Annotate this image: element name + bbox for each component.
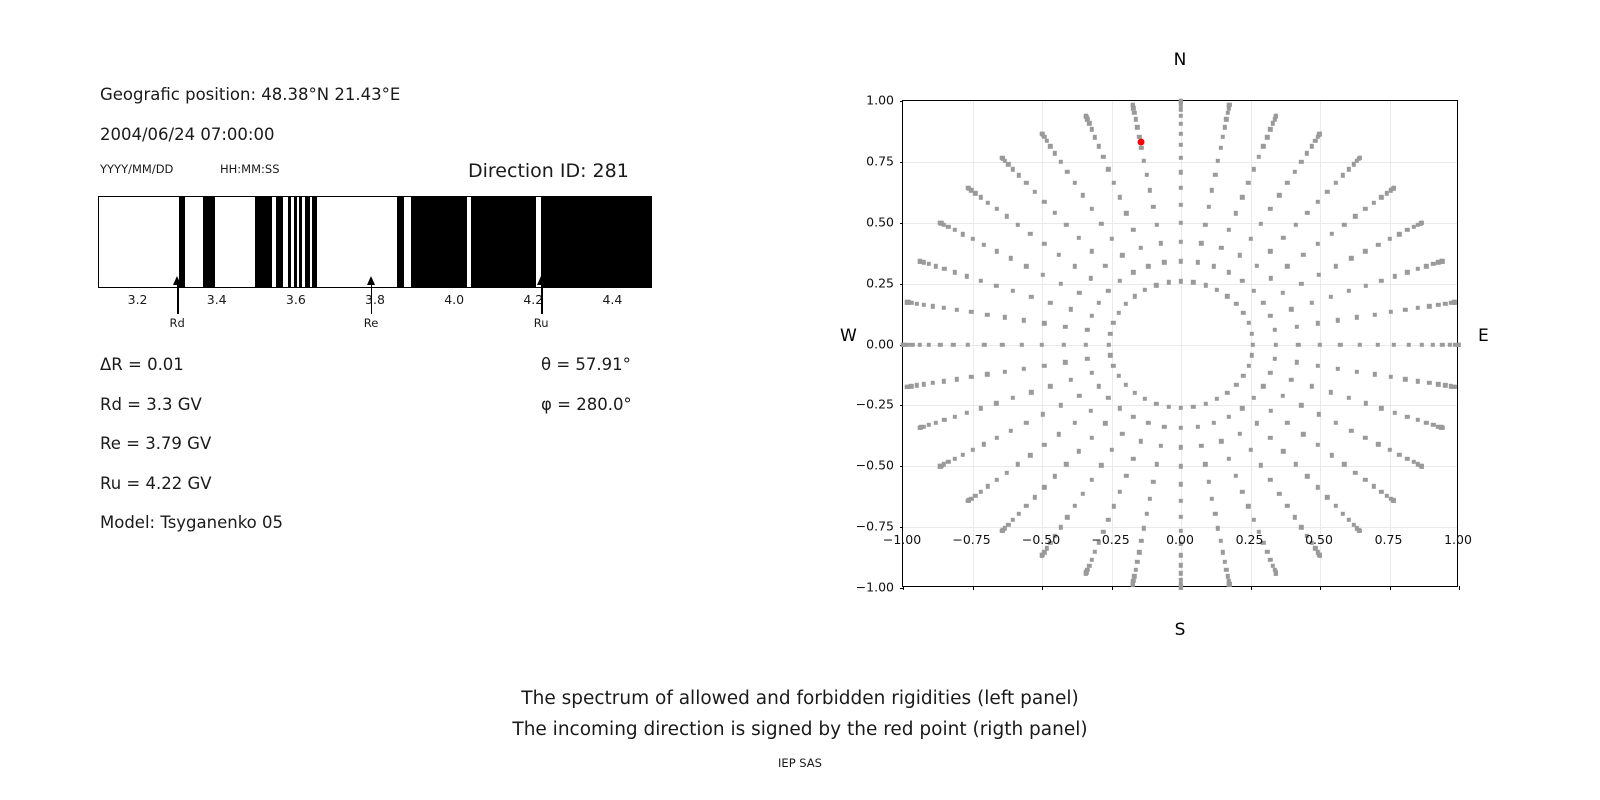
param-ru: Ru = 4.22 GV xyxy=(100,474,212,493)
direction-point xyxy=(1065,170,1069,174)
direction-point xyxy=(1211,264,1215,268)
direction-point xyxy=(1281,235,1285,239)
geographic-position-label: Geografic position: 48.38°N 21.43°E xyxy=(100,85,400,104)
direction-point xyxy=(1424,264,1428,268)
direction-point xyxy=(1305,151,1309,155)
direction-point xyxy=(1363,436,1367,440)
direction-point xyxy=(1203,402,1207,406)
y-tick-label: 0.50 xyxy=(866,214,894,229)
direction-point xyxy=(1076,449,1080,453)
direction-point xyxy=(1042,321,1046,325)
direction-point xyxy=(1213,173,1217,177)
spectrum-marker-re: Re xyxy=(371,274,372,314)
direction-point xyxy=(1427,304,1431,308)
direction-point xyxy=(1318,131,1322,135)
x-tick-label: 1.00 xyxy=(1444,532,1472,547)
direction-point xyxy=(1215,288,1219,292)
direction-point xyxy=(931,304,935,308)
direction-point xyxy=(1124,474,1128,478)
direction-point xyxy=(1252,167,1256,171)
direction-point xyxy=(1106,518,1110,522)
y-tickmark xyxy=(900,223,904,224)
forbidden-band xyxy=(541,197,652,287)
direction-point xyxy=(1342,222,1346,226)
direction-point xyxy=(1218,539,1222,543)
direction-point xyxy=(1329,453,1333,457)
y-tickmark xyxy=(900,284,904,285)
direction-point xyxy=(1052,474,1056,478)
direction-point xyxy=(946,225,950,229)
rigidity-spectrum-chart xyxy=(98,196,652,288)
direction-point xyxy=(1145,512,1149,516)
direction-point xyxy=(1179,499,1183,503)
direction-point xyxy=(1003,369,1007,373)
direction-point xyxy=(946,460,950,464)
direction-point xyxy=(1440,342,1444,346)
direction-point xyxy=(1106,167,1110,171)
direction-point xyxy=(1241,311,1245,315)
direction-point xyxy=(1234,302,1238,306)
direction-point xyxy=(1109,448,1113,452)
x-tickmark xyxy=(1390,586,1391,590)
direction-point xyxy=(1019,342,1023,346)
direction-point xyxy=(1024,181,1028,185)
direction-point xyxy=(1191,404,1195,408)
x-tickmark xyxy=(1042,586,1043,590)
direction-point xyxy=(1131,414,1135,418)
compass-south-label: S xyxy=(1175,620,1186,640)
direction-point xyxy=(1431,262,1435,266)
direction-point xyxy=(1329,295,1333,299)
direction-point xyxy=(994,401,998,405)
direction-point xyxy=(1179,279,1183,283)
direction-point xyxy=(1093,550,1097,554)
direction-point xyxy=(1225,294,1229,298)
direction-point xyxy=(1096,301,1100,305)
direction-point xyxy=(1179,107,1183,111)
date-format-hint: YYYY/MM/DD xyxy=(100,162,173,176)
rigidity-spectrum-panel: Geografic position: 48.38°N 21.43°E 2004… xyxy=(0,0,760,660)
direction-point xyxy=(1355,315,1359,319)
direction-point xyxy=(973,191,977,195)
direction-point xyxy=(1316,363,1320,367)
direction-point xyxy=(1133,391,1137,395)
direction-point xyxy=(1179,143,1183,147)
direction-point xyxy=(1349,256,1353,260)
direction-point xyxy=(1158,241,1162,245)
direction-point xyxy=(1000,529,1004,533)
forbidden-band xyxy=(294,197,297,287)
direction-point xyxy=(1155,222,1159,226)
direction-point xyxy=(931,381,935,385)
direction-point xyxy=(1118,195,1122,199)
direction-point xyxy=(1392,186,1396,190)
direction-point xyxy=(1218,146,1222,150)
direction-point xyxy=(1265,550,1269,554)
marker-shaft xyxy=(177,282,178,314)
direction-point xyxy=(1252,518,1256,522)
direction-point xyxy=(1111,364,1115,368)
direction-point xyxy=(1195,260,1199,264)
direction-point xyxy=(982,243,986,247)
direction-point xyxy=(1068,307,1072,311)
direction-point xyxy=(1199,241,1203,245)
direction-point xyxy=(1347,396,1351,400)
direction-point xyxy=(1252,289,1256,293)
caption-line-2: The incoming direction is signed by the … xyxy=(0,719,1600,740)
direction-point xyxy=(1148,496,1152,500)
direction-point xyxy=(1219,439,1223,443)
direction-point xyxy=(1081,193,1085,197)
direction-point xyxy=(938,221,942,225)
forbidden-band xyxy=(397,197,405,287)
direction-point xyxy=(922,303,926,307)
direction-point xyxy=(1133,568,1137,572)
direction-point xyxy=(1379,278,1383,282)
direction-point xyxy=(1143,288,1147,292)
direction-point xyxy=(1225,391,1229,395)
direction-point xyxy=(1072,504,1076,508)
direction-point xyxy=(1285,504,1289,508)
direction-point xyxy=(1261,144,1265,148)
direction-point xyxy=(1261,301,1265,305)
direction-point xyxy=(1405,414,1409,418)
direction-point xyxy=(955,308,959,312)
direction-point xyxy=(1268,371,1272,375)
direction-point xyxy=(1397,453,1401,457)
direction-point xyxy=(1040,131,1044,135)
forbidden-band xyxy=(411,197,467,287)
direction-id-label: Direction ID: 281 xyxy=(468,160,629,182)
direction-point xyxy=(927,342,931,346)
direction-point xyxy=(1179,239,1183,243)
direction-point xyxy=(1112,181,1116,185)
direction-point xyxy=(1089,127,1093,131)
marker-shaft xyxy=(371,282,372,314)
x-tickmark xyxy=(973,586,974,590)
direction-point xyxy=(1096,384,1100,388)
direction-point xyxy=(1363,478,1367,482)
direction-point xyxy=(1316,242,1320,246)
direction-point xyxy=(1179,464,1183,468)
direction-point xyxy=(1285,421,1289,425)
direction-point xyxy=(985,372,989,376)
spectrum-tick-label: 3.6 xyxy=(286,292,306,307)
direction-point xyxy=(1068,377,1072,381)
direction-point xyxy=(1305,210,1309,214)
direction-point xyxy=(1089,314,1093,318)
forbidden-band xyxy=(276,197,283,287)
direction-point xyxy=(1269,276,1273,280)
direction-point xyxy=(918,259,922,263)
direction-point xyxy=(1206,480,1210,484)
direction-point xyxy=(1179,186,1183,190)
direction-point xyxy=(1029,390,1033,394)
direction-point xyxy=(1416,379,1420,383)
direction-point xyxy=(1268,127,1272,131)
direction-point xyxy=(1045,139,1049,143)
direction-point xyxy=(1124,302,1128,306)
direction-point xyxy=(938,464,942,468)
direction-point xyxy=(918,426,922,430)
direction-point xyxy=(1274,342,1278,346)
direction-point xyxy=(1250,331,1254,335)
direction-point xyxy=(1085,357,1089,361)
direction-point xyxy=(1003,315,1007,319)
direction-point xyxy=(1058,525,1062,529)
direction-point xyxy=(1357,529,1361,533)
x-tick-label: 0.50 xyxy=(1305,532,1333,547)
direction-point xyxy=(1048,144,1052,148)
direction-point xyxy=(1087,121,1091,125)
direction-point xyxy=(1024,421,1028,425)
direction-point xyxy=(1099,463,1103,467)
y-tick-label: −1.00 xyxy=(856,580,894,595)
direction-point xyxy=(1334,264,1338,268)
direction-point xyxy=(1223,125,1227,129)
direction-point xyxy=(1457,342,1461,346)
spectrum-bar xyxy=(98,196,652,288)
direction-map-panel: N S W E −1.00−0.75−0.50−0.250.000.250.50… xyxy=(830,40,1530,660)
direction-point xyxy=(901,342,905,346)
direction-point xyxy=(1375,342,1379,346)
direction-point xyxy=(1179,586,1183,590)
direction-point xyxy=(1403,377,1407,381)
direction-point xyxy=(1250,353,1254,357)
direction-point xyxy=(1179,571,1183,575)
direction-point xyxy=(1238,431,1242,435)
y-tickmark xyxy=(900,527,904,528)
direction-point xyxy=(1246,504,1250,508)
x-tickmark xyxy=(1459,586,1460,590)
direction-point xyxy=(1334,421,1338,425)
direction-point xyxy=(1376,442,1380,446)
direction-point xyxy=(1154,402,1158,406)
direction-point xyxy=(1416,418,1420,422)
direction-point xyxy=(1118,278,1122,282)
direction-point xyxy=(1405,270,1409,274)
direction-point xyxy=(1179,156,1183,160)
direction-point xyxy=(1089,207,1093,211)
direction-point xyxy=(1431,342,1435,346)
direction-point xyxy=(1011,167,1015,171)
y-tickmark xyxy=(900,162,904,163)
direction-point xyxy=(1317,272,1321,276)
direction-point xyxy=(1392,342,1396,346)
direction-point xyxy=(1028,232,1032,236)
direction-point xyxy=(1064,222,1068,226)
direction-point xyxy=(1420,342,1424,346)
direction-point xyxy=(1112,504,1116,508)
direction-point xyxy=(1009,428,1013,432)
x-tick-label: 0.75 xyxy=(1375,532,1403,547)
direction-point xyxy=(1296,342,1300,346)
direction-point xyxy=(1272,357,1276,361)
y-tickmark xyxy=(900,405,904,406)
direction-point xyxy=(1248,448,1252,452)
direction-point xyxy=(1281,394,1285,398)
direction-point xyxy=(1203,283,1207,287)
direction-point xyxy=(1042,242,1046,246)
direction-point xyxy=(1376,243,1380,247)
direction-point xyxy=(1226,228,1230,232)
direction-point xyxy=(1000,342,1004,346)
direction-point xyxy=(1077,291,1081,295)
direction-point xyxy=(1166,404,1170,408)
direction-point xyxy=(1274,571,1278,575)
direction-point xyxy=(1420,221,1424,225)
incoming-direction-point xyxy=(1137,138,1144,145)
direction-point xyxy=(1318,553,1322,557)
direction-point xyxy=(1052,210,1056,214)
direction-point xyxy=(1057,253,1061,257)
direction-point xyxy=(1294,360,1298,364)
direction-point xyxy=(1316,199,1320,203)
direction-point xyxy=(979,278,983,282)
direction-point xyxy=(1240,406,1244,410)
direction-point xyxy=(953,414,957,418)
direction-point xyxy=(1032,189,1036,193)
direction-point xyxy=(1379,195,1383,199)
direction-point xyxy=(1072,181,1076,185)
direction-point xyxy=(1240,278,1244,282)
direction-point xyxy=(1259,463,1263,467)
direction-point xyxy=(1058,160,1062,164)
direction-point xyxy=(1016,222,1020,226)
direction-point xyxy=(1347,167,1351,171)
direction-point xyxy=(1057,432,1061,436)
direction-point xyxy=(1024,504,1028,508)
direction-point xyxy=(1407,342,1411,346)
direction-point xyxy=(1158,444,1162,448)
direction-point xyxy=(1028,453,1032,457)
direction-point xyxy=(1108,331,1112,335)
direction-point xyxy=(1191,280,1195,284)
direction-point xyxy=(1211,421,1215,425)
direction-point xyxy=(1101,155,1105,159)
y-tickmark xyxy=(900,466,904,467)
direction-point xyxy=(1009,256,1013,260)
param-re: Re = 3.79 GV xyxy=(100,434,211,453)
direction-point xyxy=(1203,462,1207,466)
direction-point xyxy=(1259,221,1263,225)
direction-point xyxy=(1219,246,1223,250)
direction-point xyxy=(1272,328,1276,332)
direction-point xyxy=(1392,499,1396,503)
direction-point xyxy=(1357,342,1361,346)
marker-label: Ru xyxy=(534,316,549,330)
spectrum-tick-label: 3.8 xyxy=(365,292,385,307)
direction-point xyxy=(966,342,970,346)
direction-point xyxy=(1131,582,1135,586)
direction-point xyxy=(969,375,973,379)
spectrum-tick-label: 3.2 xyxy=(128,292,148,307)
spectrum-marker-rd: Rd xyxy=(177,274,178,314)
direction-point xyxy=(1179,405,1183,409)
direction-point xyxy=(966,499,970,503)
direction-point xyxy=(1215,397,1219,401)
direction-point xyxy=(1233,474,1237,478)
x-tickmark xyxy=(1112,586,1113,590)
direction-point xyxy=(1151,205,1155,209)
direction-point xyxy=(1347,289,1351,293)
direction-point xyxy=(1179,445,1183,449)
caption-line-1: The spectrum of allowed and forbidden ri… xyxy=(0,688,1600,709)
datetime-label: 2004/06/24 07:00:00 xyxy=(100,125,274,144)
direction-point xyxy=(1179,99,1183,103)
direction-point xyxy=(1166,280,1170,284)
direction-point xyxy=(953,270,957,274)
direction-point xyxy=(1238,253,1242,257)
direction-point xyxy=(1334,504,1338,508)
y-tick-label: 0.75 xyxy=(866,153,894,168)
direction-point xyxy=(1089,249,1093,253)
direction-point xyxy=(986,484,990,488)
direction-point xyxy=(942,267,946,271)
forbidden-band xyxy=(299,197,302,287)
direction-point xyxy=(1309,384,1313,388)
direction-point xyxy=(1016,462,1020,466)
direction-point xyxy=(982,342,986,346)
direction-point xyxy=(1329,232,1333,236)
direction-point xyxy=(1179,259,1183,263)
direction-point xyxy=(1271,121,1275,125)
direction-point xyxy=(1268,436,1272,440)
y-tick-label: −0.25 xyxy=(856,397,894,412)
direction-point xyxy=(979,489,983,493)
direction-point xyxy=(985,312,989,316)
spectrum-axis: 3.23.43.63.84.04.24.4RdReRu xyxy=(98,288,652,348)
direction-point xyxy=(1139,439,1143,443)
direction-point xyxy=(1443,301,1447,305)
direction-point xyxy=(1416,267,1420,271)
direction-point xyxy=(1106,289,1110,293)
direction-point xyxy=(914,301,918,305)
direction-point xyxy=(1364,283,1368,287)
direction-point xyxy=(1226,270,1230,274)
gridline-vertical xyxy=(1112,101,1113,586)
direction-point xyxy=(1357,156,1361,160)
direction-point xyxy=(1058,281,1062,285)
direction-point xyxy=(1042,443,1046,447)
direction-point xyxy=(942,418,946,422)
direction-point xyxy=(1313,139,1317,143)
param-rd: Rd = 3.3 GV xyxy=(100,395,202,414)
direction-point xyxy=(1108,353,1112,357)
direction-point xyxy=(965,274,969,278)
y-tickmark xyxy=(900,588,904,589)
direction-point xyxy=(1040,553,1044,557)
direction-point xyxy=(1309,301,1313,305)
forbidden-band xyxy=(471,197,536,287)
direction-point xyxy=(1145,173,1149,177)
direction-point xyxy=(1281,291,1285,295)
direction-point xyxy=(1393,411,1397,415)
direction-point xyxy=(970,237,974,241)
direction-point xyxy=(1162,424,1166,428)
direction-point xyxy=(1257,155,1261,159)
direction-point xyxy=(953,228,957,232)
gridline-horizontal xyxy=(903,162,1457,163)
direction-point xyxy=(1299,281,1303,285)
x-tick-label: 0.25 xyxy=(1236,532,1264,547)
direction-point xyxy=(1226,457,1230,461)
direction-point xyxy=(1096,144,1100,148)
compass-east-label: E xyxy=(1478,326,1489,346)
direction-point xyxy=(994,478,998,482)
direction-point xyxy=(1440,426,1444,430)
compass-west-label: W xyxy=(840,326,857,346)
